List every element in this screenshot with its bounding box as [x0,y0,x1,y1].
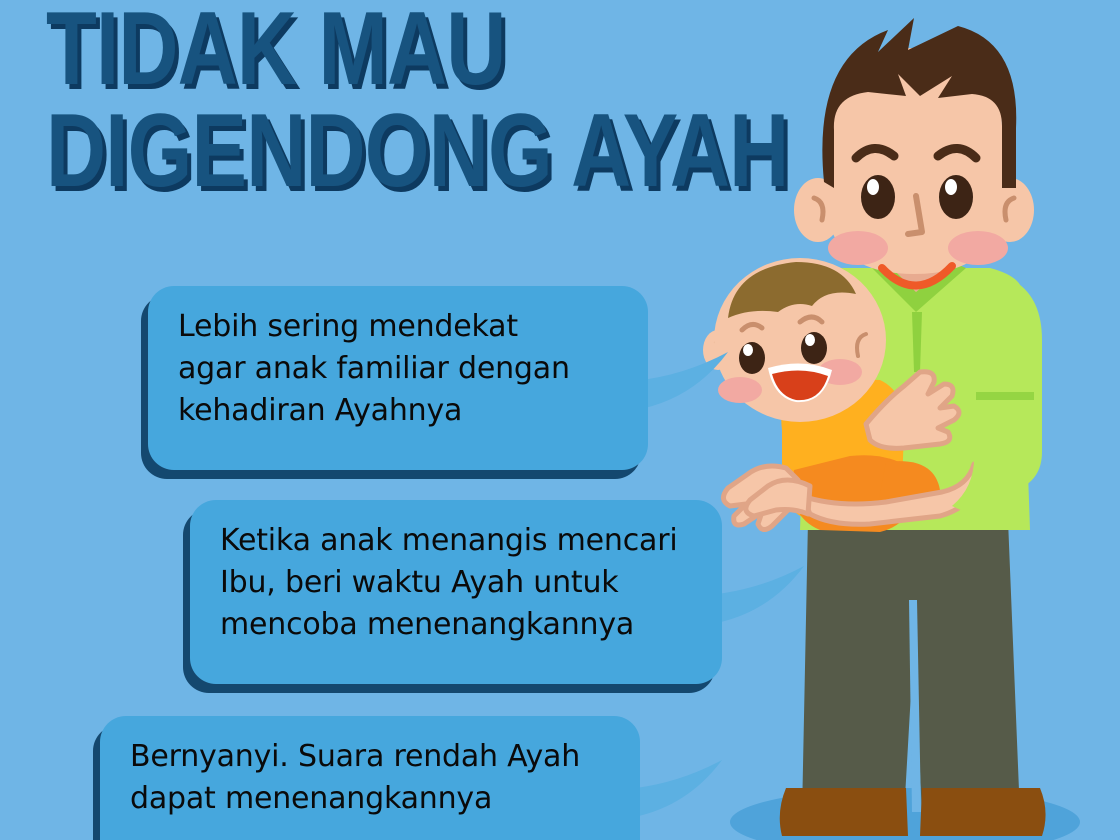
infographic-canvas: TIDAK MAU DIGENDONG AYAH Lebih sering me… [0,0,1120,840]
tip-bubble-2: Ketika anak menangis mencari Ibu, beri w… [190,500,722,684]
sleeve-cuff-line-right [976,392,1034,400]
tip-bubble-3-text: Bernyanyi. Suara rendah Ayah dapat menen… [130,736,614,820]
tip-bubble-1-body: Lebih sering mendekat agar anak familiar… [148,286,648,470]
shoe-right [920,788,1046,836]
page-title: TIDAK MAU DIGENDONG AYAH [46,2,746,199]
baby-blush-left [718,377,762,403]
tip-bubble-3: Bernyanyi. Suara rendah Ayah dapat menen… [100,716,640,840]
baby-eye-left-highlight [743,344,753,356]
father-eye-left [861,175,895,219]
title-line-2: DIGENDONG AYAH [46,104,606,200]
title-line-1: TIDAK MAU [46,2,606,98]
tip-bubble-1-text: Lebih sering mendekat agar anak familiar… [178,306,622,432]
father-eye-right-highlight [945,179,957,195]
father-eye-left-highlight [867,179,879,195]
tip-bubble-2-body: Ketika anak menangis mencari Ibu, beri w… [190,500,722,684]
tip-bubble-1: Lebih sering mendekat agar anak familiar… [148,286,648,470]
baby-eye-right-highlight [805,334,815,346]
father-blush-left [828,231,888,265]
tip-bubble-2-text: Ketika anak menangis mencari Ibu, beri w… [220,520,696,646]
father-blush-right [948,231,1008,265]
father-eye-right [939,175,973,219]
shoe-left [780,788,908,836]
tip-bubble-3-body: Bernyanyi. Suara rendah Ayah dapat menen… [100,716,640,840]
